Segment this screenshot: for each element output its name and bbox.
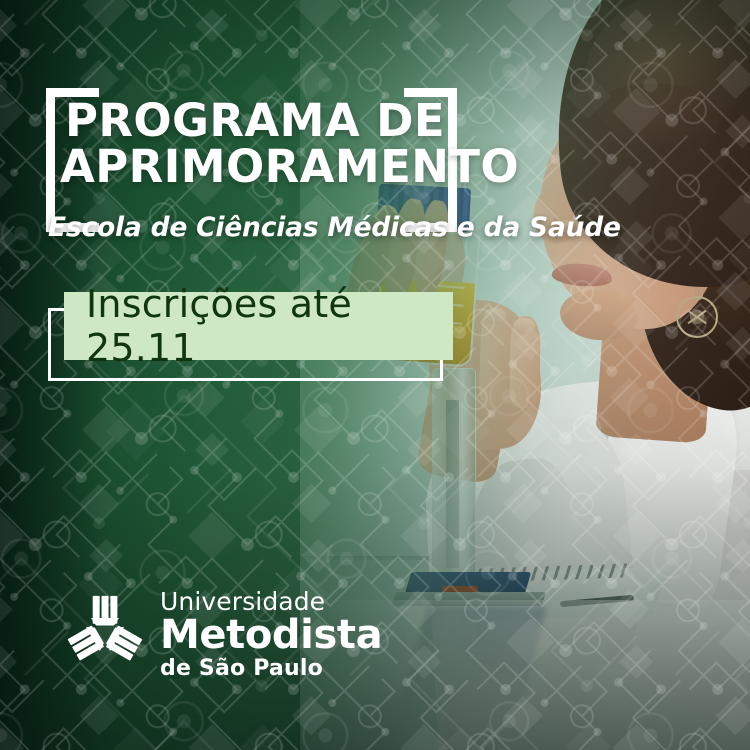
brand-logo: Universidade Metodista de São Paulo	[64, 588, 364, 676]
logo-line-universidade: Universidade	[160, 589, 370, 614]
metodista-triskelion-mark	[64, 590, 146, 674]
promo-poster: PROGRAMA DE APRIMORAMENTO Escola de Ciên…	[0, 0, 750, 750]
page-title: PROGRAMA DE APRIMORAMENTO	[60, 98, 450, 190]
logo-line-metodista: Metodista	[160, 615, 370, 656]
logo-wordmark: Universidade Metodista de São Paulo	[160, 588, 370, 680]
deadline-badge-label: Inscrições até 25.11	[86, 292, 446, 360]
subtitle: Escola de Ciências Médicas e da Saúde	[48, 212, 458, 243]
title-line-2: APRIMORAMENTO	[60, 144, 450, 190]
logo-line-sao-paulo: de São Paulo	[160, 658, 370, 680]
